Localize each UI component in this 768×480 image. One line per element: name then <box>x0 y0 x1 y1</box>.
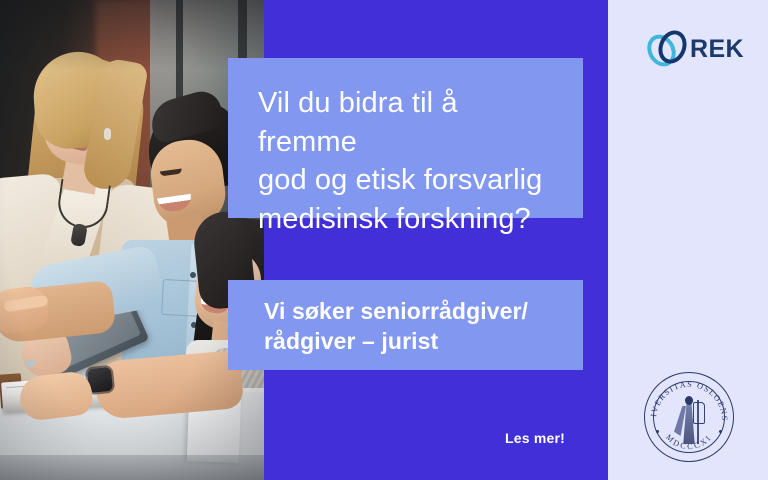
seal-dot <box>719 430 722 433</box>
recruitment-banner: REK UNIVERSITAS OSLOENSIS MDCCCXI <box>0 0 768 480</box>
seal-figure-cape <box>674 406 686 436</box>
photo-vignette <box>0 0 264 480</box>
seal-dot <box>656 430 659 433</box>
rek-logo[interactable]: REK <box>648 26 744 72</box>
team-collaboration-photo <box>0 0 264 480</box>
seal-figure-lyre <box>693 402 705 424</box>
uio-seal: UNIVERSITAS OSLOENSIS MDCCCXI <box>644 372 734 462</box>
job-title-box: Vi søker seniorrådgiver/ rådgiver – juri… <box>228 280 583 370</box>
seal-figure-head <box>685 396 693 405</box>
rek-rings-icon <box>648 28 688 70</box>
rek-wordmark: REK <box>690 37 744 62</box>
headline-text: Vil du bidra til å fremme god og etisk f… <box>258 84 553 238</box>
read-more-link[interactable]: Les mer! <box>505 430 565 446</box>
job-title-text: Vi søker seniorrådgiver/ rådgiver – juri… <box>264 297 553 357</box>
headline-box: Vil du bidra til å fremme god og etisk f… <box>228 58 583 218</box>
seal-figure-apollo <box>674 392 704 444</box>
